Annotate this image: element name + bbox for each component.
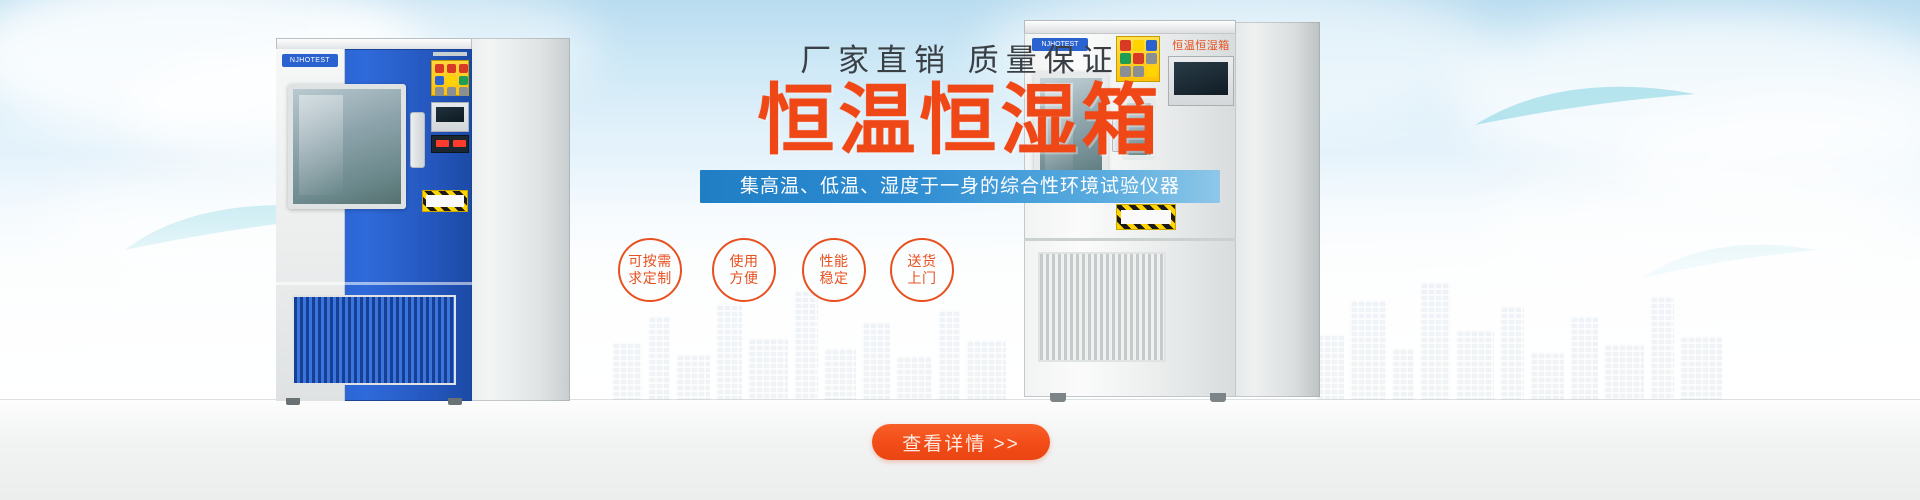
banner-subtitle: 集高温、低温、湿度于一身的综合性环境试验仪器 — [700, 170, 1220, 203]
product-left-door-handle — [410, 112, 425, 168]
banner-tagline: 厂家直销 质量保证 — [700, 44, 1220, 78]
product-image-left: NJHOTEST — [270, 20, 570, 405]
product-right-top-cap — [1024, 20, 1236, 34]
feature-circle-1-line2: 方便 — [730, 270, 759, 287]
feature-circle-0-line2: 求定制 — [628, 270, 672, 287]
product-left-chamber-door — [288, 84, 406, 209]
product-left-hazard-label — [422, 190, 468, 212]
product-right-vent-grill — [1038, 252, 1166, 362]
product-right-body-seam — [1024, 238, 1236, 241]
product-right-foot — [1210, 393, 1226, 402]
feature-circle-2-line2: 稳定 — [820, 270, 849, 287]
feature-circle-2: 性能 稳定 — [802, 238, 866, 302]
feature-circle-1-line1: 使用 — [730, 253, 759, 270]
product-left-warning-sticker — [431, 60, 469, 96]
product-left-foot — [448, 398, 462, 405]
banner-headline: 恒温恒湿箱 — [700, 82, 1220, 161]
feature-circle-3-line2: 上门 — [908, 270, 937, 287]
feature-circle-0: 可按需 求定制 — [618, 238, 682, 302]
feature-circle-3: 送货 上门 — [890, 238, 954, 302]
product-left-body-seam — [276, 282, 472, 285]
feature-circle-0-line1: 可按需 — [628, 253, 672, 270]
feature-circle-group: 可按需 求定制 使用 方便 性能 稳定 送货 上门 — [604, 234, 964, 306]
product-left-touch-screen — [431, 102, 469, 132]
product-left-foot — [286, 398, 300, 405]
product-left-led-display — [431, 135, 469, 153]
product-left-control-strip — [433, 52, 467, 56]
product-right-foot — [1050, 393, 1066, 402]
product-right-hazard-label — [1116, 204, 1176, 230]
product-left-side-panel — [466, 38, 570, 401]
product-left-vent-grill — [292, 295, 456, 385]
product-left-brand-logo: NJHOTEST — [282, 54, 338, 67]
product-right-side-panel — [1232, 22, 1320, 397]
feature-circle-1: 使用 方便 — [712, 238, 776, 302]
banner-text-block: 厂家直销 质量保证 恒温恒湿箱 集高温、低温、湿度于一身的综合性环境试验仪器 — [700, 44, 1220, 203]
feature-circle-3-line1: 送货 — [908, 253, 937, 270]
banner-stage: NJHOTEST NJHOTEST 恒温恒湿箱 — [0, 0, 1920, 500]
feature-circle-2-line1: 性能 — [820, 253, 849, 270]
view-details-button[interactable]: 查看详情 >> — [872, 424, 1050, 460]
